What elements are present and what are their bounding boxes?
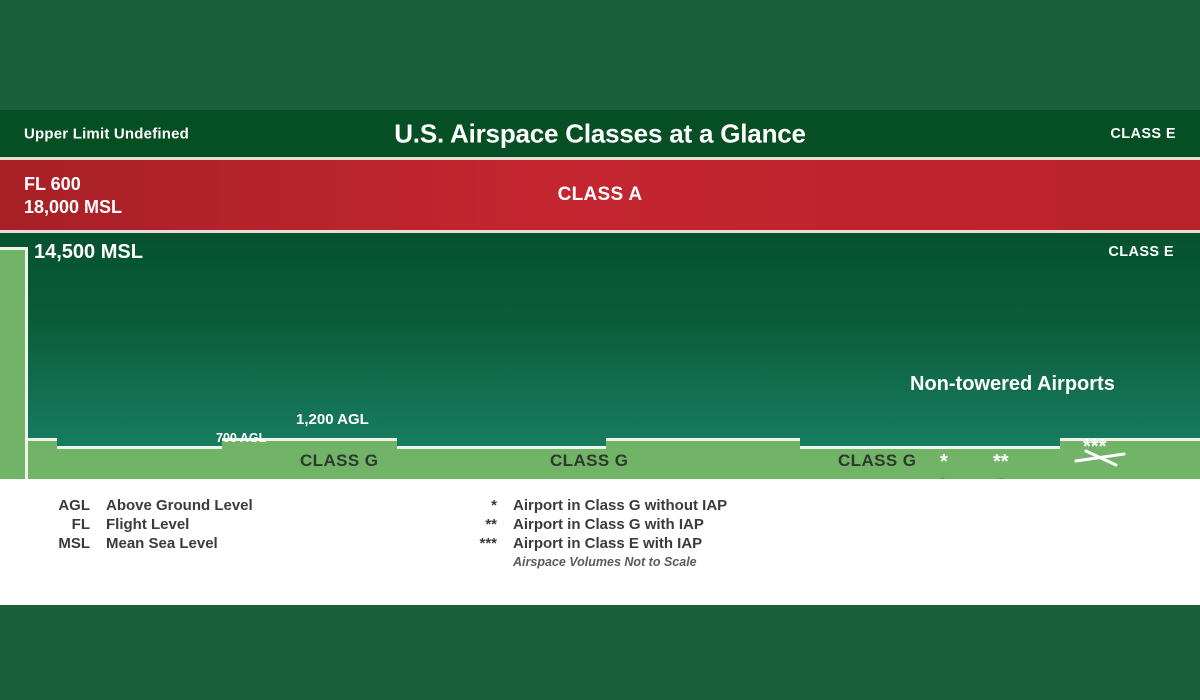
class-g-label-right: CLASS G bbox=[838, 451, 916, 471]
header-band: Upper Limit Undefined U.S. Airspace Clas… bbox=[0, 110, 1200, 160]
legend-key: FL bbox=[48, 516, 106, 533]
legend-key: MSL bbox=[48, 535, 106, 552]
legend-key: AGL bbox=[48, 497, 106, 514]
legend-row: ** Airport in Class G with IAP bbox=[455, 516, 727, 533]
airspace-diagram: 14,500 MSL CLASS E Non-towered Airports … bbox=[0, 233, 1200, 479]
legend-row: FL Flight Level bbox=[48, 516, 253, 533]
altitude-1200-agl-label: 1,200 AGL bbox=[296, 411, 369, 428]
airport-marker-class-g-no-iap: * bbox=[940, 451, 948, 474]
legend-value: Mean Sea Level bbox=[106, 535, 218, 552]
legend-row: *** Airport in Class E with IAP bbox=[455, 535, 727, 552]
airport-marker-class-e-iap: *** bbox=[1083, 436, 1106, 459]
legend-key: * bbox=[455, 497, 513, 514]
class-a-band: FL 600 18,000 MSL CLASS A bbox=[0, 160, 1200, 233]
legend-value: Airport in Class G with IAP bbox=[513, 516, 704, 533]
runway-icon-non-towered-2 bbox=[988, 476, 1036, 479]
airspace-infographic: Upper Limit Undefined U.S. Airspace Clas… bbox=[0, 0, 1200, 700]
class-g-segment-0 bbox=[28, 438, 57, 479]
legend-value: Flight Level bbox=[106, 516, 189, 533]
class-e-left-column bbox=[0, 247, 28, 479]
legend-value: Above Ground Level bbox=[106, 497, 253, 514]
non-towered-airports-label: Non-towered Airports bbox=[910, 373, 1115, 396]
class-g-segment-4 bbox=[606, 438, 800, 479]
legend-key: *** bbox=[455, 535, 513, 552]
footnote-legend: * Airport in Class G without IAP ** Airp… bbox=[455, 497, 727, 569]
legend-row: MSL Mean Sea Level bbox=[48, 535, 253, 552]
header-class-e-label: CLASS E bbox=[1110, 126, 1176, 142]
runway-icon-non-towered-1 bbox=[930, 476, 978, 479]
legend-row: AGL Above Ground Level bbox=[48, 497, 253, 514]
legend-key: ** bbox=[455, 516, 513, 533]
altitude-700-agl-label: 700 AGL bbox=[216, 431, 266, 445]
page-title: U.S. Airspace Classes at a Glance bbox=[0, 118, 1200, 149]
sky-class-e-label: CLASS E bbox=[1108, 244, 1174, 260]
legend-value: Airport in Class E with IAP bbox=[513, 535, 702, 552]
class-a-label: CLASS A bbox=[0, 184, 1200, 206]
abbreviation-legend: AGL Above Ground Level FL Flight Level M… bbox=[48, 497, 253, 554]
legend-panel: AGL Above Ground Level FL Flight Level M… bbox=[0, 479, 1200, 605]
altitude-14500-label: 14,500 MSL bbox=[34, 241, 143, 264]
class-g-label-left: CLASS G bbox=[300, 451, 378, 471]
legend-row: * Airport in Class G without IAP bbox=[455, 497, 727, 514]
airport-marker-class-g-iap: ** bbox=[993, 451, 1009, 474]
class-g-segment-1 bbox=[57, 446, 222, 479]
class-g-label-center: CLASS G bbox=[550, 451, 628, 471]
legend-value: Airport in Class G without IAP bbox=[513, 497, 727, 514]
scale-disclaimer: Airspace Volumes Not to Scale bbox=[513, 555, 727, 569]
